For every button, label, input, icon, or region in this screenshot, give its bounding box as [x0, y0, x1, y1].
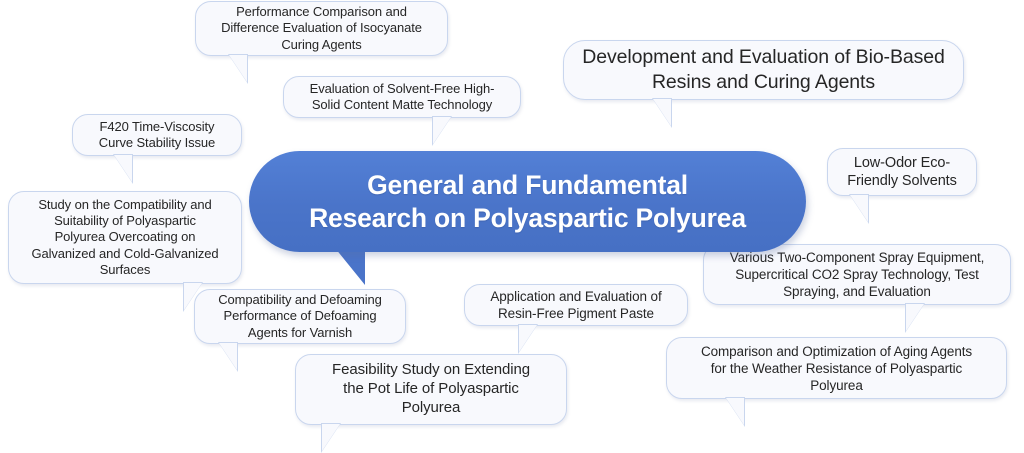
topic-bubble-overcoating-compatibility[interactable]: Study on the Compatibility and Suitabili… [8, 191, 242, 284]
topic-bubble-defoaming-agents[interactable]: Compatibility and Defoaming Performance … [194, 289, 406, 344]
topic-label-overcoating-compatibility: Study on the Compatibility and Suitabili… [22, 197, 227, 279]
topic-label-f420-viscosity: F420 Time-Viscosity Curve Stability Issu… [90, 119, 224, 152]
central-topic-bubble[interactable]: General and Fundamental Research on Poly… [249, 151, 806, 252]
topic-bubble-low-odor-solvents[interactable]: Low-Odor Eco- Friendly Solvents [827, 148, 977, 196]
topic-bubble-spray-equipment[interactable]: Various Two-Component Spray Equipment, S… [703, 244, 1011, 305]
topic-label-bio-based-resins: Development and Evaluation of Bio-Based … [573, 45, 954, 94]
topic-bubble-isocyanate[interactable]: Performance Comparison and Difference Ev… [195, 1, 448, 56]
topic-label-matte-technology: Evaluation of Solvent-Free High- Solid C… [301, 81, 504, 114]
topic-label-low-odor-solvents: Low-Odor Eco- Friendly Solvents [838, 154, 966, 191]
topic-bubble-f420-viscosity[interactable]: F420 Time-Viscosity Curve Stability Issu… [72, 114, 242, 156]
central-topic-label: General and Fundamental Research on Poly… [309, 169, 746, 234]
topic-bubble-aging-agents[interactable]: Comparison and Optimization of Aging Age… [666, 337, 1007, 399]
topic-label-pot-life: Feasibility Study on Extending the Pot L… [323, 361, 539, 418]
topic-bubble-pot-life[interactable]: Feasibility Study on Extending the Pot L… [295, 354, 567, 425]
mind-map-canvas: General and Fundamental Research on Poly… [0, 0, 1024, 453]
topic-label-isocyanate: Performance Comparison and Difference Ev… [212, 4, 431, 53]
topic-label-aging-agents: Comparison and Optimization of Aging Age… [692, 343, 981, 394]
topic-bubble-bio-based-resins[interactable]: Development and Evaluation of Bio-Based … [563, 40, 964, 100]
topic-label-defoaming-agents: Compatibility and Defoaming Performance … [209, 292, 391, 341]
topic-bubble-matte-technology[interactable]: Evaluation of Solvent-Free High- Solid C… [283, 76, 521, 118]
topic-bubble-pigment-paste[interactable]: Application and Evaluation of Resin-Free… [464, 284, 688, 326]
topic-label-pigment-paste: Application and Evaluation of Resin-Free… [481, 288, 670, 322]
topic-label-spray-equipment: Various Two-Component Spray Equipment, S… [721, 249, 994, 300]
